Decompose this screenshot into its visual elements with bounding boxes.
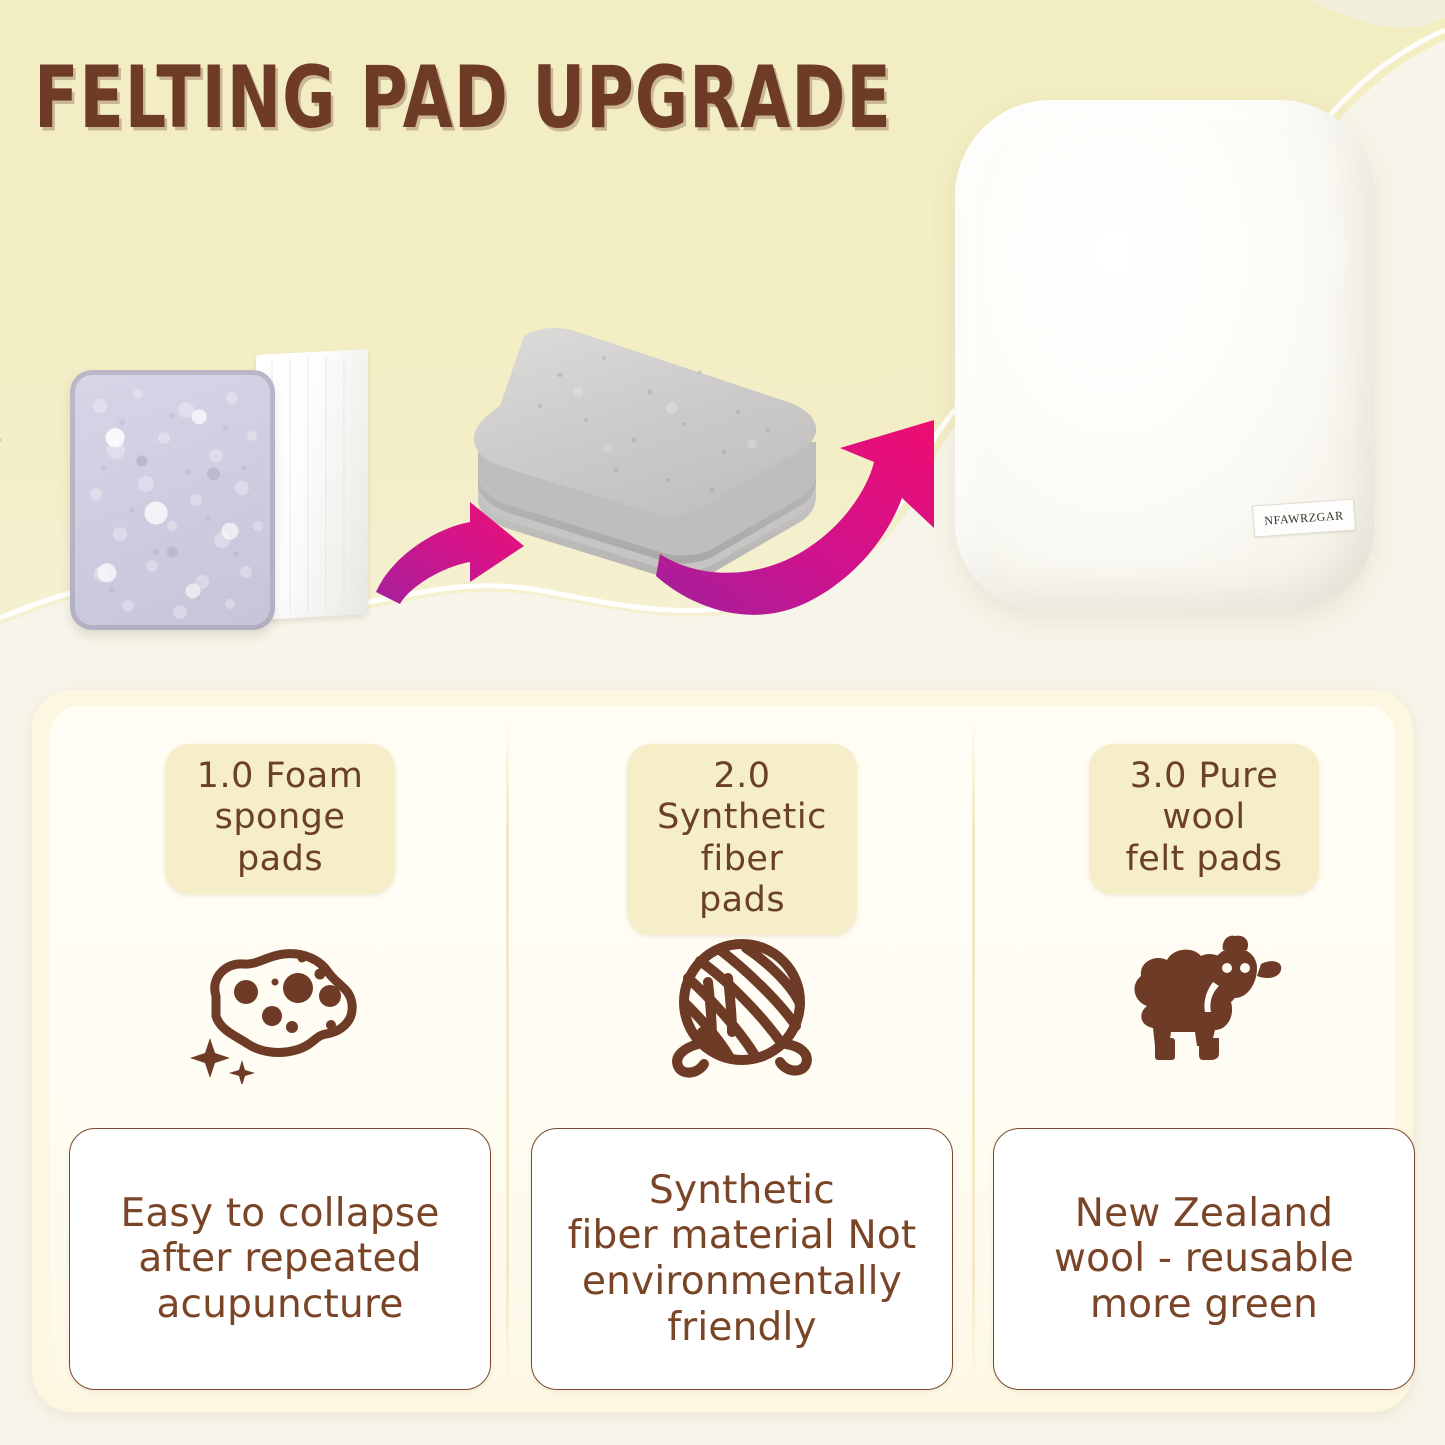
- description-card-wool: New Zealand wool - reusable more green: [993, 1128, 1415, 1390]
- description-text: New Zealand wool - reusable more green: [1046, 1181, 1362, 1338]
- badge-synthetic-fiber-pads: 2.0 Synthetic fiber pads: [627, 744, 857, 935]
- comparison-panel: 1.0 Foam sponge pads: [32, 690, 1413, 1412]
- yarn-ball-icon: [632, 921, 852, 1096]
- foam-sponge-pad: [70, 360, 360, 650]
- sheep-icon-graphic: [1117, 934, 1292, 1084]
- badge-foam-sponge-pads: 1.0 Foam sponge pads: [165, 744, 395, 894]
- badge-pure-wool-felt-pads: 3.0 Pure wool felt pads: [1089, 744, 1319, 894]
- comparison-column-foam: 1.0 Foam sponge pads: [50, 706, 510, 1428]
- badge-label: 1.0 Foam sponge pads: [195, 756, 365, 880]
- comparison-column-synthetic: 2.0 Synthetic fiber pads: [512, 706, 972, 1428]
- sheep-icon: [1094, 921, 1314, 1096]
- description-text: Easy to collapse after repeated acupunct…: [112, 1181, 447, 1338]
- badge-label: 2.0 Synthetic fiber pads: [657, 756, 827, 921]
- comparison-column-wool: 3.0 Pure wool felt pads: [974, 706, 1434, 1428]
- hero-products: NFAWRZGAR: [0, 0, 1445, 690]
- wool-felt-pad: [955, 100, 1375, 610]
- description-card-synthetic: Synthetic fiber material Not environment…: [531, 1128, 953, 1390]
- brand-label-text: NFAWRZGAR: [1264, 508, 1344, 529]
- yarn-ball-icon-graphic: [662, 934, 822, 1084]
- sponge-icon-graphic: [180, 934, 380, 1084]
- sponge-icon: [170, 921, 390, 1096]
- description-card-foam: Easy to collapse after repeated acupunct…: [69, 1128, 491, 1390]
- description-text: Synthetic fiber material Not environment…: [560, 1158, 925, 1361]
- badge-label: 3.0 Pure wool felt pads: [1119, 756, 1289, 880]
- sponge-texture: [76, 376, 269, 624]
- felting-pad-upgrade-infographic: FELTING PAD UPGRADE: [0, 0, 1445, 1445]
- gray-sponge-body: [70, 370, 275, 630]
- comparison-panel-inner: 1.0 Foam sponge pads: [50, 706, 1395, 1396]
